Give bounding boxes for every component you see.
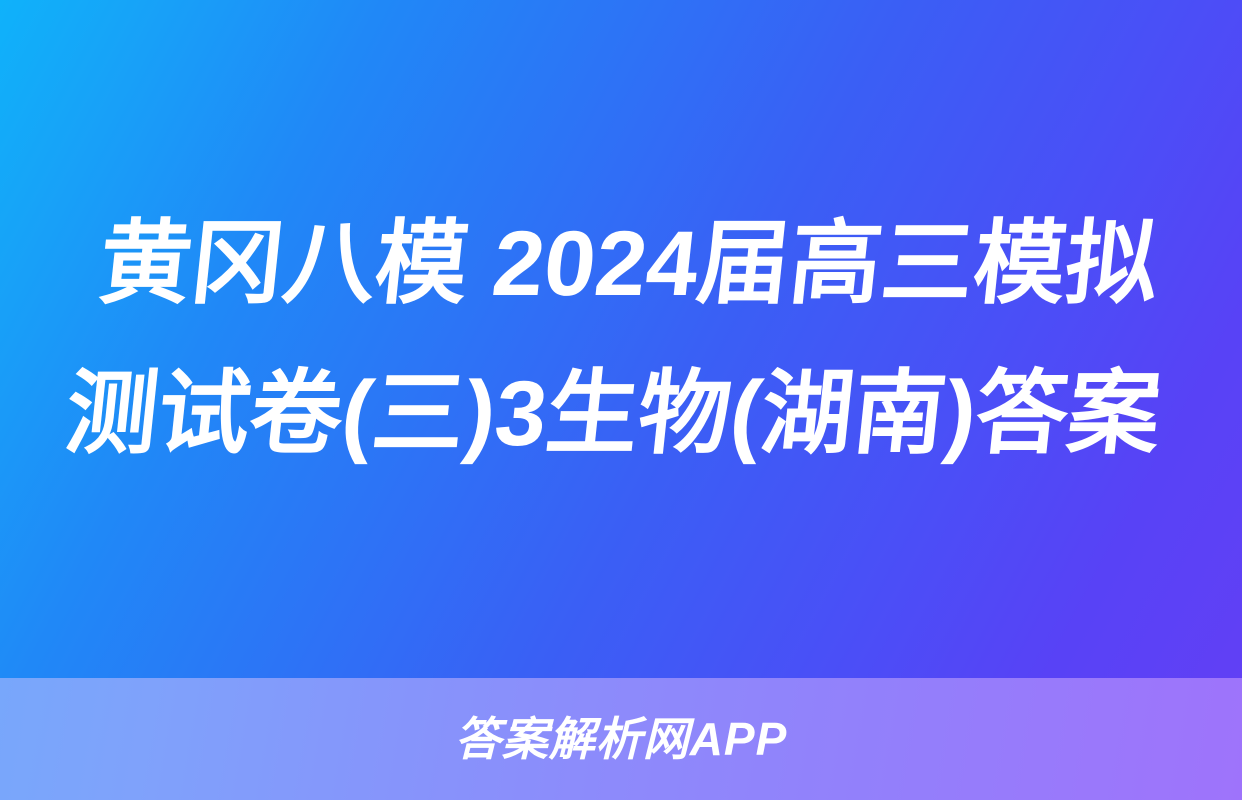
title-block: 黄冈八模 2024届高三模拟测试卷(三)3生物(湖南)答案 [0,0,1242,678]
poster-card: 黄冈八模 2024届高三模拟测试卷(三)3生物(湖南)答案 答案解析网APP [0,0,1242,800]
poster-title: 黄冈八模 2024届高三模拟测试卷(三)3生物(湖南)答案 [46,189,1196,489]
footer-watermark-wrap: 答案解析网APP [0,678,1242,800]
app-watermark-label: 答案解析网APP [455,716,788,762]
